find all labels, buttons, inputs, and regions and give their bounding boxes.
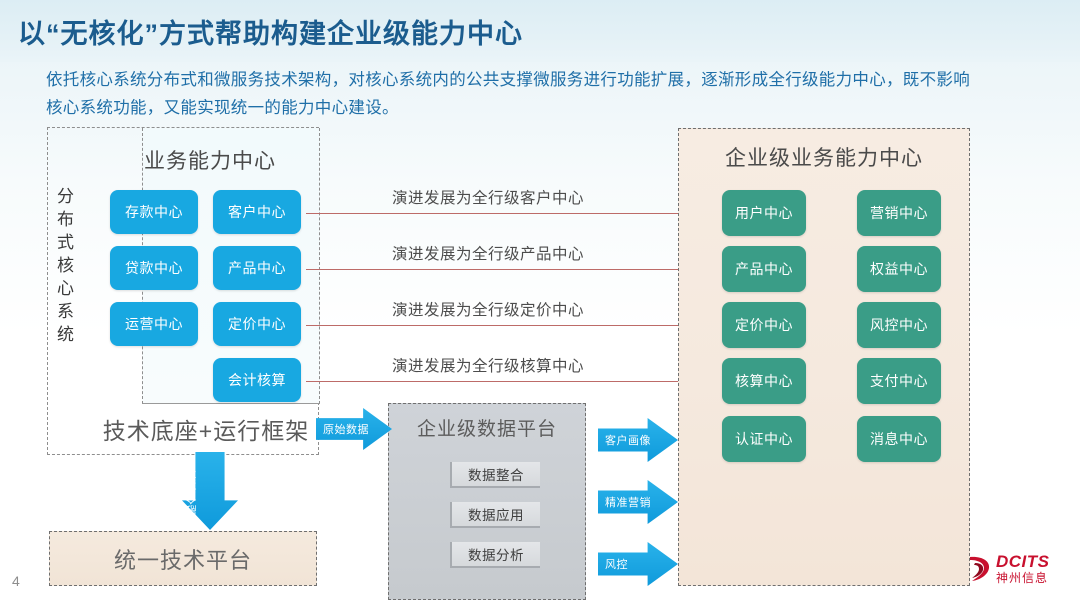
business-capability-center-heading: 业务能力中心 xyxy=(110,145,310,175)
evolution-line-2 xyxy=(306,269,723,270)
data-platform-item-analysis[interactable]: 数据分析 xyxy=(450,542,540,568)
ent-box-message-center[interactable]: 消息中心 xyxy=(857,416,941,462)
page-number: 4 xyxy=(12,573,20,589)
chevron-risk-control: 风控 xyxy=(598,542,678,586)
chevron-raw-data-label: 原始数据 xyxy=(316,421,369,437)
capability-box-accounting[interactable]: 会计核算 xyxy=(213,358,301,402)
ent-box-pricing-center[interactable]: 定价中心 xyxy=(722,302,806,348)
distributed-core-system-label: 分布式核心系统 xyxy=(55,185,77,346)
data-platform-title: 企业级数据平台 xyxy=(388,414,586,441)
chevron-customer-profile-label: 客户画像 xyxy=(598,432,651,448)
chevron-precision-marketing: 精准营销 xyxy=(598,480,678,524)
ent-box-marketing-center[interactable]: 营销中心 xyxy=(857,190,941,236)
dcits-logo-text: DCITS 神州信息 xyxy=(996,553,1050,584)
chevron-down-convergence-label: 融合沉淀 xyxy=(184,470,200,516)
enterprise-capability-center-heading: 企业级业务能力中心 xyxy=(678,142,970,172)
ent-box-payment-center[interactable]: 支付中心 xyxy=(857,358,941,404)
page-title: 以“无核化”方式帮助构建企业级能力中心 xyxy=(18,12,523,51)
ent-box-product-center[interactable]: 产品中心 xyxy=(722,246,806,292)
dcits-logo-mark-icon xyxy=(966,554,992,584)
ent-box-user-center[interactable]: 用户中心 xyxy=(722,190,806,236)
evolution-label-4: 演进发展为全行级核算中心 xyxy=(392,354,584,376)
unified-tech-platform-box: 统一技术平台 xyxy=(49,531,317,586)
slide-canvas: 以“无核化”方式帮助构建企业级能力中心 依托核心系统分布式和微服务技术架构，对核… xyxy=(0,0,1080,608)
dcits-logo-en: DCITS xyxy=(996,553,1050,570)
chevron-raw-data: 原始数据 xyxy=(316,408,392,450)
evolution-line-1 xyxy=(306,213,723,214)
chevron-risk-control-label: 风控 xyxy=(598,556,628,572)
capability-box-loan[interactable]: 贷款中心 xyxy=(110,246,198,290)
dcits-logo: DCITS 神州信息 xyxy=(966,553,1050,584)
page-subtitle: 依托核心系统分布式和微服务技术架构，对核心系统内的公共支撑微服务进行功能扩展，逐… xyxy=(46,66,976,122)
tech-foundation-label: 技术底座+运行框架 xyxy=(95,412,317,446)
capability-box-deposit[interactable]: 存款中心 xyxy=(110,190,198,234)
evolution-label-1: 演进发展为全行级客户中心 xyxy=(392,186,584,208)
chevron-down-convergence: 融合沉淀 xyxy=(182,452,238,530)
chevron-customer-profile: 客户画像 xyxy=(598,418,678,462)
evolution-line-4 xyxy=(306,381,723,382)
capability-box-operation[interactable]: 运营中心 xyxy=(110,302,198,346)
capability-box-customer[interactable]: 客户中心 xyxy=(213,190,301,234)
evolution-line-3 xyxy=(306,325,723,326)
capability-box-pricing[interactable]: 定价中心 xyxy=(213,302,301,346)
ent-box-auth-center[interactable]: 认证中心 xyxy=(722,416,806,462)
evolution-label-3: 演进发展为全行级定价中心 xyxy=(392,298,584,320)
ent-box-benefits-center[interactable]: 权益中心 xyxy=(857,246,941,292)
chevron-precision-marketing-label: 精准营销 xyxy=(598,494,651,510)
data-platform-item-application[interactable]: 数据应用 xyxy=(450,502,540,528)
ent-box-accounting-center[interactable]: 核算中心 xyxy=(722,358,806,404)
distributed-core-system-frame xyxy=(47,127,319,455)
evolution-label-2: 演进发展为全行级产品中心 xyxy=(392,242,584,264)
dcits-logo-cn: 神州信息 xyxy=(996,572,1050,584)
ent-box-risk-center[interactable]: 风控中心 xyxy=(857,302,941,348)
capability-box-product[interactable]: 产品中心 xyxy=(213,246,301,290)
data-platform-item-integration[interactable]: 数据整合 xyxy=(450,462,540,488)
